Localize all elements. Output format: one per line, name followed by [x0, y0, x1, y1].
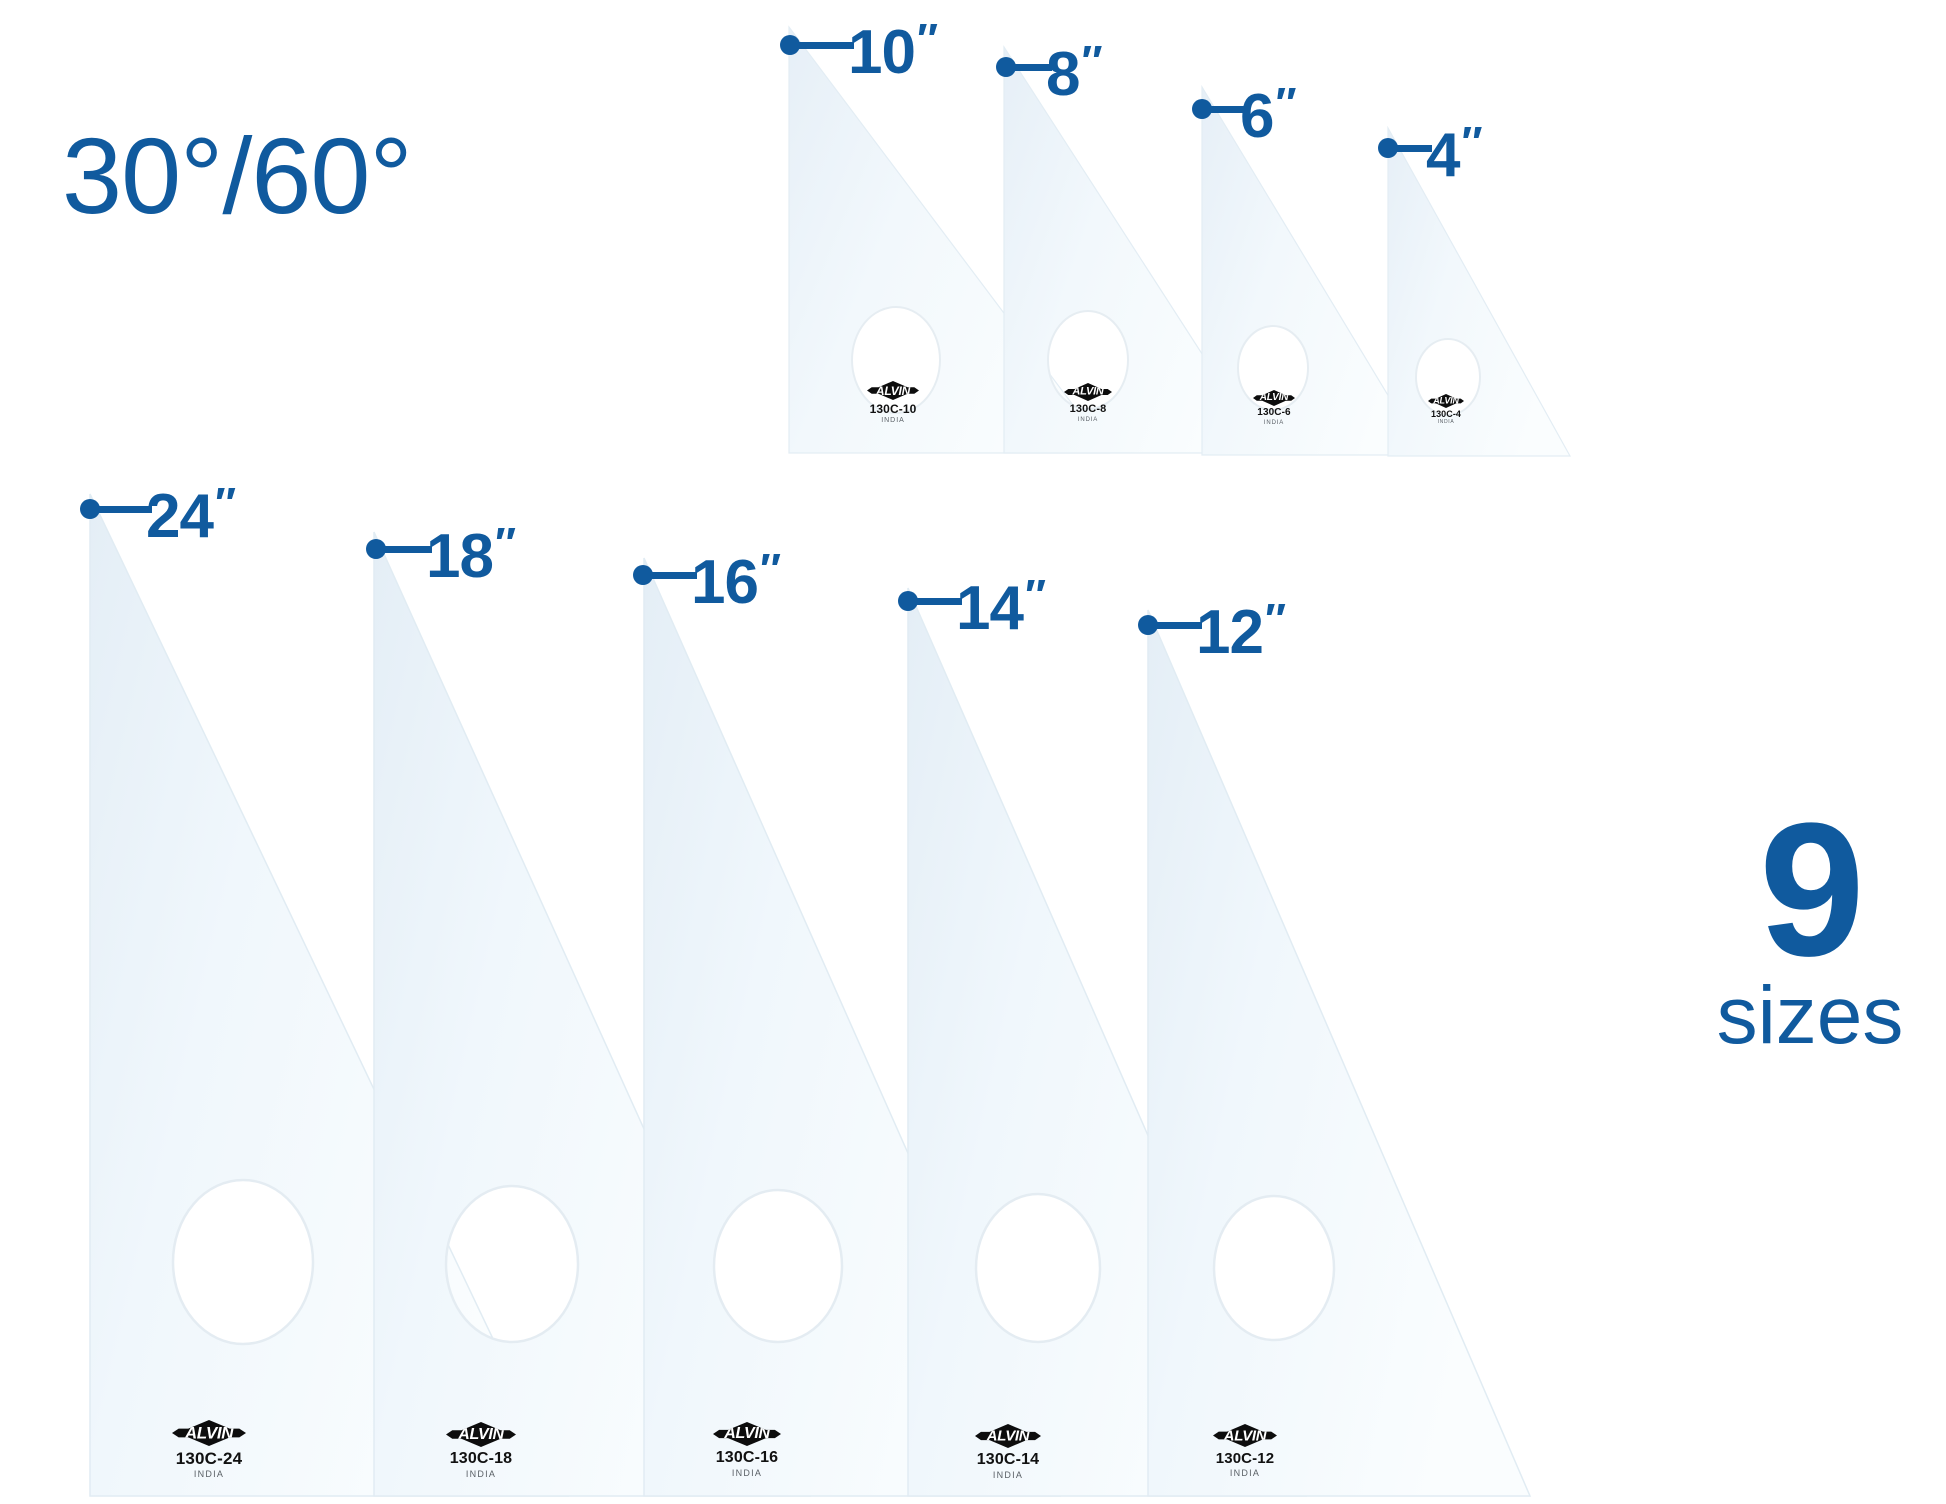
callout-leader-line — [798, 42, 854, 49]
callout-dot-icon — [780, 35, 800, 55]
sizes-word: sizes — [1645, 975, 1946, 1057]
inch-mark: ″ — [1461, 118, 1481, 167]
callout-label-12in: 12″ — [1196, 602, 1283, 664]
callout-label-16in: 16″ — [691, 552, 778, 614]
callout-10in: 10″ — [780, 14, 935, 76]
callout-12in: 12″ — [1138, 594, 1283, 656]
callout-leader-line — [98, 506, 152, 513]
callout-label-8in: 8″ — [1046, 44, 1100, 106]
callout-dot-icon — [1378, 138, 1398, 158]
callout-dot-icon — [1192, 99, 1212, 119]
callout-dot-icon — [1138, 615, 1158, 635]
inch-mark: ″ — [1081, 37, 1101, 86]
sizes-badge: 9 sizes — [1645, 800, 1946, 1057]
inch-mark: ″ — [1275, 79, 1295, 128]
callout-14in: 14″ — [898, 570, 1043, 632]
callout-18in: 18″ — [366, 518, 513, 580]
triangle-12in-shape — [1140, 608, 1536, 1500]
callout-label-4in: 4″ — [1426, 125, 1480, 187]
triangle-12in: ALVIN 130C-12 INDIA — [1140, 608, 1536, 1500]
callout-24in: 24″ — [80, 478, 233, 540]
inch-mark: ″ — [495, 519, 515, 568]
callout-leader-line — [384, 546, 432, 553]
callout-label-18in: 18″ — [426, 526, 513, 588]
callout-8in: 8″ — [996, 36, 1100, 98]
inch-mark: ″ — [215, 479, 235, 528]
page-title-angle: 30°/60° — [62, 122, 412, 230]
inch-mark: ″ — [760, 545, 780, 594]
callout-4in: 4″ — [1378, 117, 1480, 179]
callout-6in: 6″ — [1192, 78, 1294, 140]
callout-dot-icon — [633, 565, 653, 585]
callout-label-10in: 10″ — [848, 22, 935, 84]
callout-16in: 16″ — [633, 544, 778, 606]
sizes-count: 9 — [1645, 800, 1946, 981]
inch-mark: ″ — [1265, 595, 1285, 644]
callout-dot-icon — [80, 499, 100, 519]
product-lineup-image: 30°/60° ALVIN 130C-10 — [0, 0, 1946, 1504]
callout-dot-icon — [996, 57, 1016, 77]
callout-label-24in: 24″ — [146, 486, 233, 548]
callout-label-14in: 14″ — [956, 578, 1043, 640]
callout-label-6in: 6″ — [1240, 86, 1294, 148]
inch-mark: ″ — [917, 15, 937, 64]
callout-dot-icon — [366, 539, 386, 559]
callout-dot-icon — [898, 591, 918, 611]
inch-mark: ″ — [1025, 571, 1045, 620]
